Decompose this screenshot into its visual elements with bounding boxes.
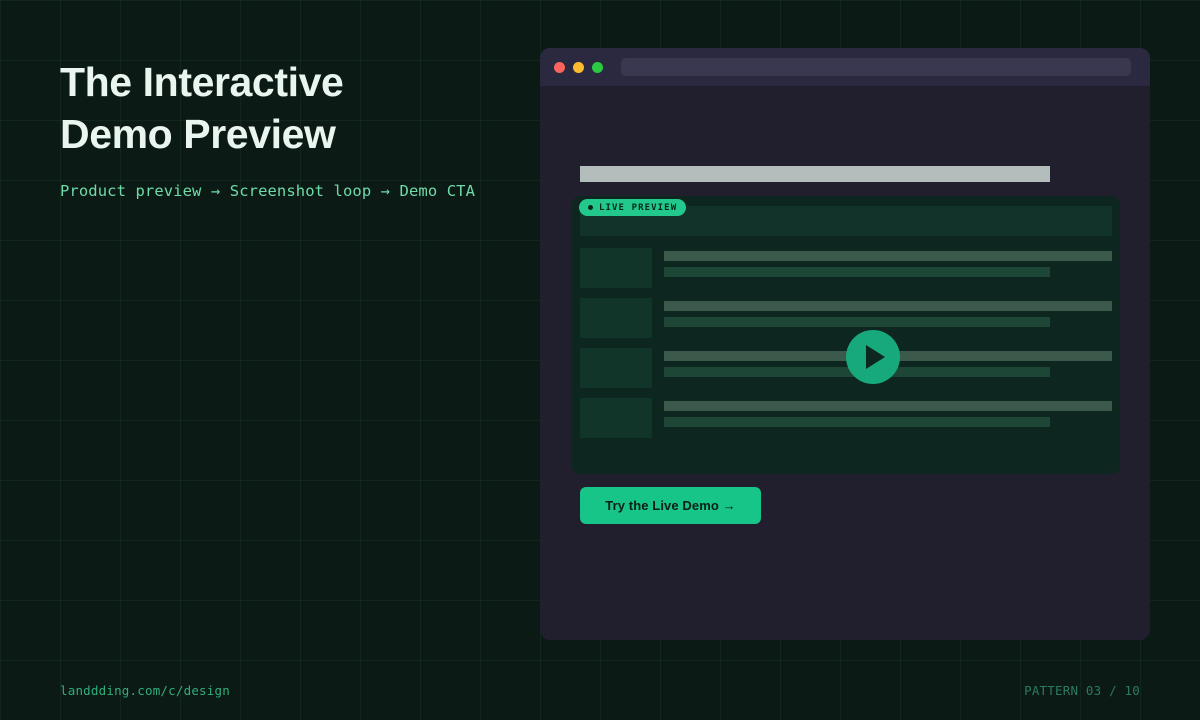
play-button[interactable]: [846, 330, 900, 384]
list-item[interactable]: [580, 248, 1112, 298]
maximize-dot-icon[interactable]: [592, 62, 603, 73]
list-item[interactable]: [580, 398, 1112, 448]
skeleton-line-primary: [664, 301, 1112, 311]
minimize-dot-icon[interactable]: [573, 62, 584, 73]
list-item[interactable]: [580, 298, 1112, 348]
skeleton-line-secondary: [664, 417, 1050, 427]
status-dot-icon: [588, 205, 593, 210]
skeleton-line-primary: [664, 401, 1112, 411]
hero-text-column: The Interactive Demo Preview Product pre…: [60, 56, 500, 200]
address-bar-input[interactable]: [621, 58, 1131, 76]
hero-subtitle: Product preview → Screenshot loop → Demo…: [60, 182, 500, 200]
page-title: The Interactive Demo Preview: [60, 56, 500, 160]
headline-line-1: The Interactive: [60, 56, 500, 108]
play-triangle-icon: [866, 345, 885, 369]
live-preview-card: LIVE PREVIEW: [572, 196, 1120, 474]
thumbnail-placeholder: [580, 248, 652, 288]
placeholder-hero-bar: [580, 166, 1050, 182]
skeleton-line-secondary: [664, 267, 1050, 277]
skeleton-line-secondary: [664, 317, 1050, 327]
skeleton-line-primary: [664, 251, 1112, 261]
headline-line-2: Demo Preview: [60, 108, 500, 160]
status-badge-label: LIVE PREVIEW: [599, 203, 677, 213]
close-dot-icon[interactable]: [554, 62, 565, 73]
footer-pattern-counter: PATTERN 03 / 10: [1024, 683, 1140, 698]
footer-url: landdding.com/c/design: [60, 683, 230, 698]
browser-mockup-window: LIVE PREVIEW: [540, 48, 1150, 640]
thumbnail-placeholder: [580, 348, 652, 388]
browser-titlebar: [540, 48, 1150, 86]
try-live-demo-button[interactable]: Try the Live Demo →: [580, 487, 761, 524]
thumbnail-placeholder: [580, 298, 652, 338]
thumbnail-placeholder: [580, 398, 652, 438]
status-badge: LIVE PREVIEW: [579, 199, 686, 216]
